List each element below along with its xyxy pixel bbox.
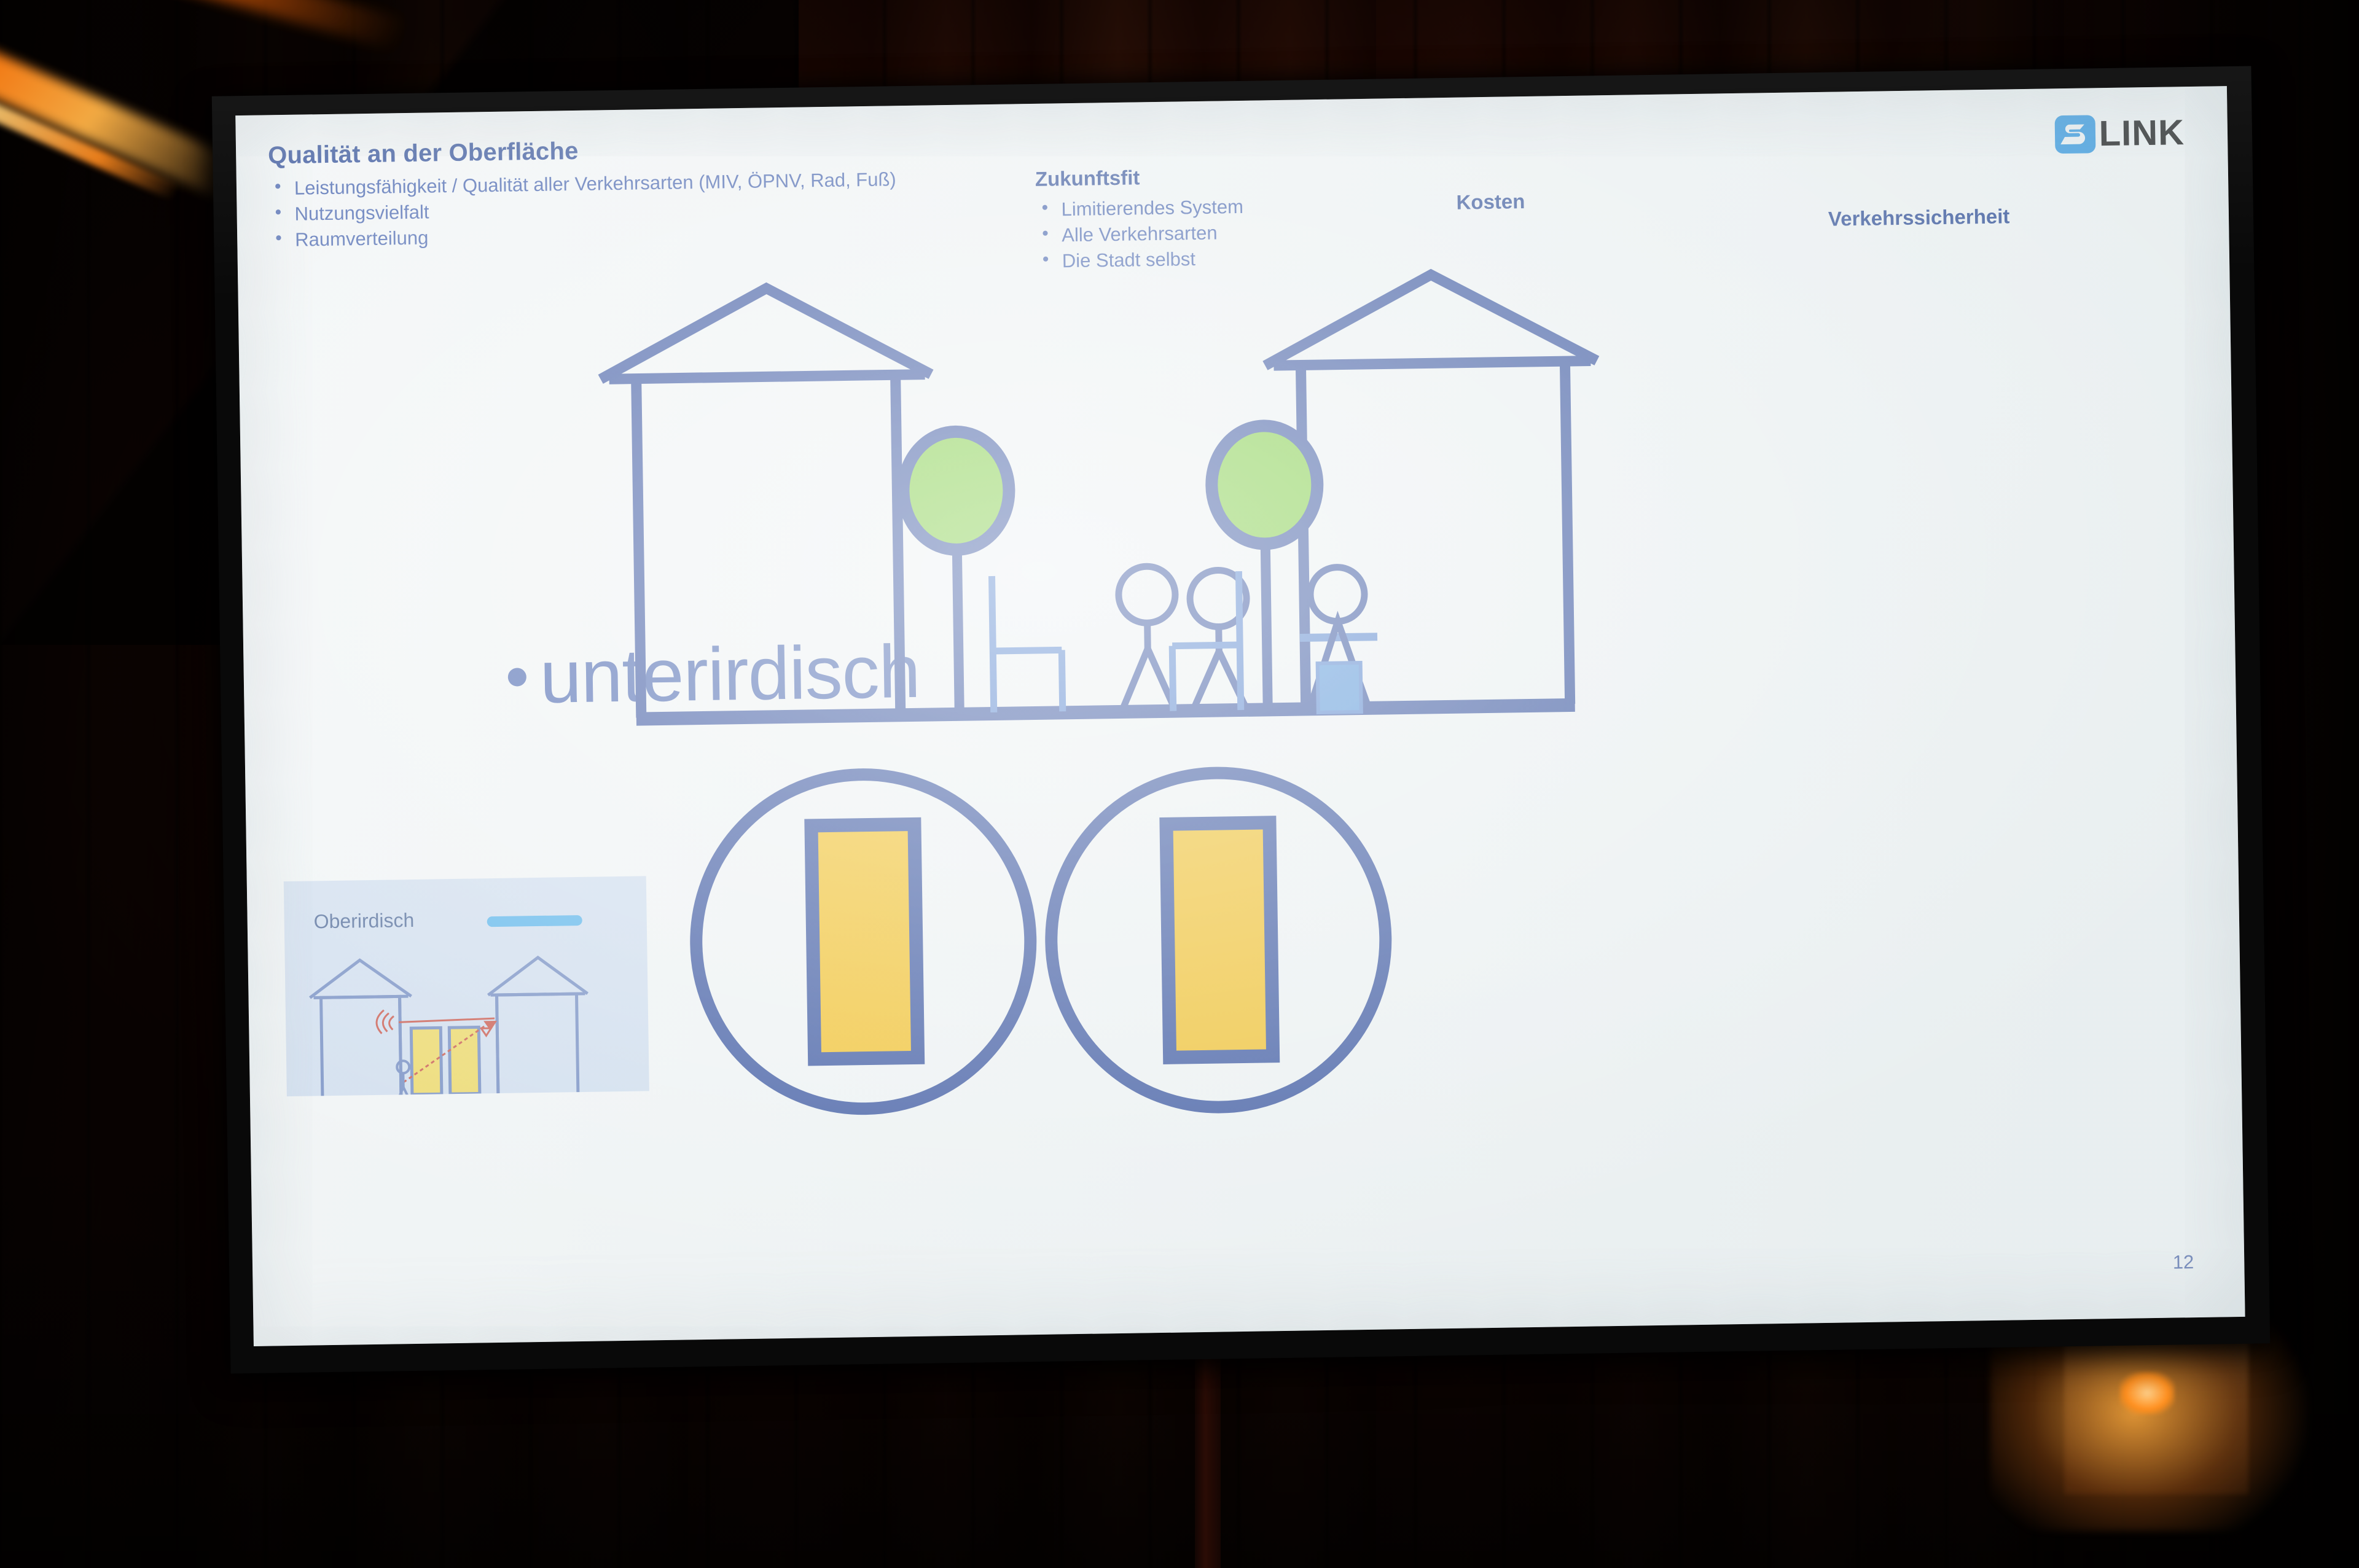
presentation-slide: Qualität an der Oberfläche Leistungsfähi… [235, 86, 2245, 1346]
screenshot-root: Qualität an der Oberfläche Leistungsfähi… [0, 0, 2359, 1568]
heading-zukunftsfit: Zukunftsfit [1035, 165, 1243, 191]
cross-section-diagram [582, 243, 2021, 1222]
bench-right [1171, 571, 1240, 711]
lamp-bulb-highlight [2119, 1371, 2175, 1414]
bullets-qualitaet: Leistungsfähigkeit / Qualität aller Verk… [268, 166, 898, 254]
bullet-item: Limitierendes System [1035, 194, 1243, 223]
tunnel-left [694, 772, 1033, 1111]
monitor-stand [1195, 1339, 1221, 1568]
person-standing-1 [1118, 566, 1176, 712]
bullet-dot-icon [508, 668, 526, 686]
column-qualitaet: Qualität an der Oberfläche Leistungsfähi… [268, 133, 897, 254]
bullet-item: Alle Verkehrsarten [1036, 220, 1244, 249]
thumbnail-title: Oberirdisch [313, 909, 414, 933]
cross-section-svg [582, 243, 2021, 1222]
tunnel-right [1049, 771, 1388, 1110]
tram-left [811, 824, 918, 1059]
s-link-mark-icon [2053, 114, 2097, 155]
tram-right [1167, 822, 1273, 1057]
heading-verkehrssicherheit: Verkehrssicherheit [1828, 205, 2010, 230]
thumbnail-blue-bar [487, 915, 582, 927]
screen: Qualität an der Oberfläche Leistungsfähi… [235, 86, 2245, 1346]
ground-line [636, 705, 1575, 719]
waste-bin [1318, 663, 1361, 712]
building-left [600, 286, 936, 718]
heading-kosten: Kosten [1456, 190, 1525, 214]
logo-wordmark: LINK [2099, 115, 2185, 152]
page-number: 12 [2173, 1251, 2194, 1274]
s-link-logo: LINK [2053, 112, 2185, 155]
monitor: Qualität an der Oberfläche Leistungsfähi… [212, 66, 2270, 1373]
bench-left [992, 575, 1062, 712]
heading-qualitaet: Qualität an der Oberfläche [268, 133, 896, 170]
